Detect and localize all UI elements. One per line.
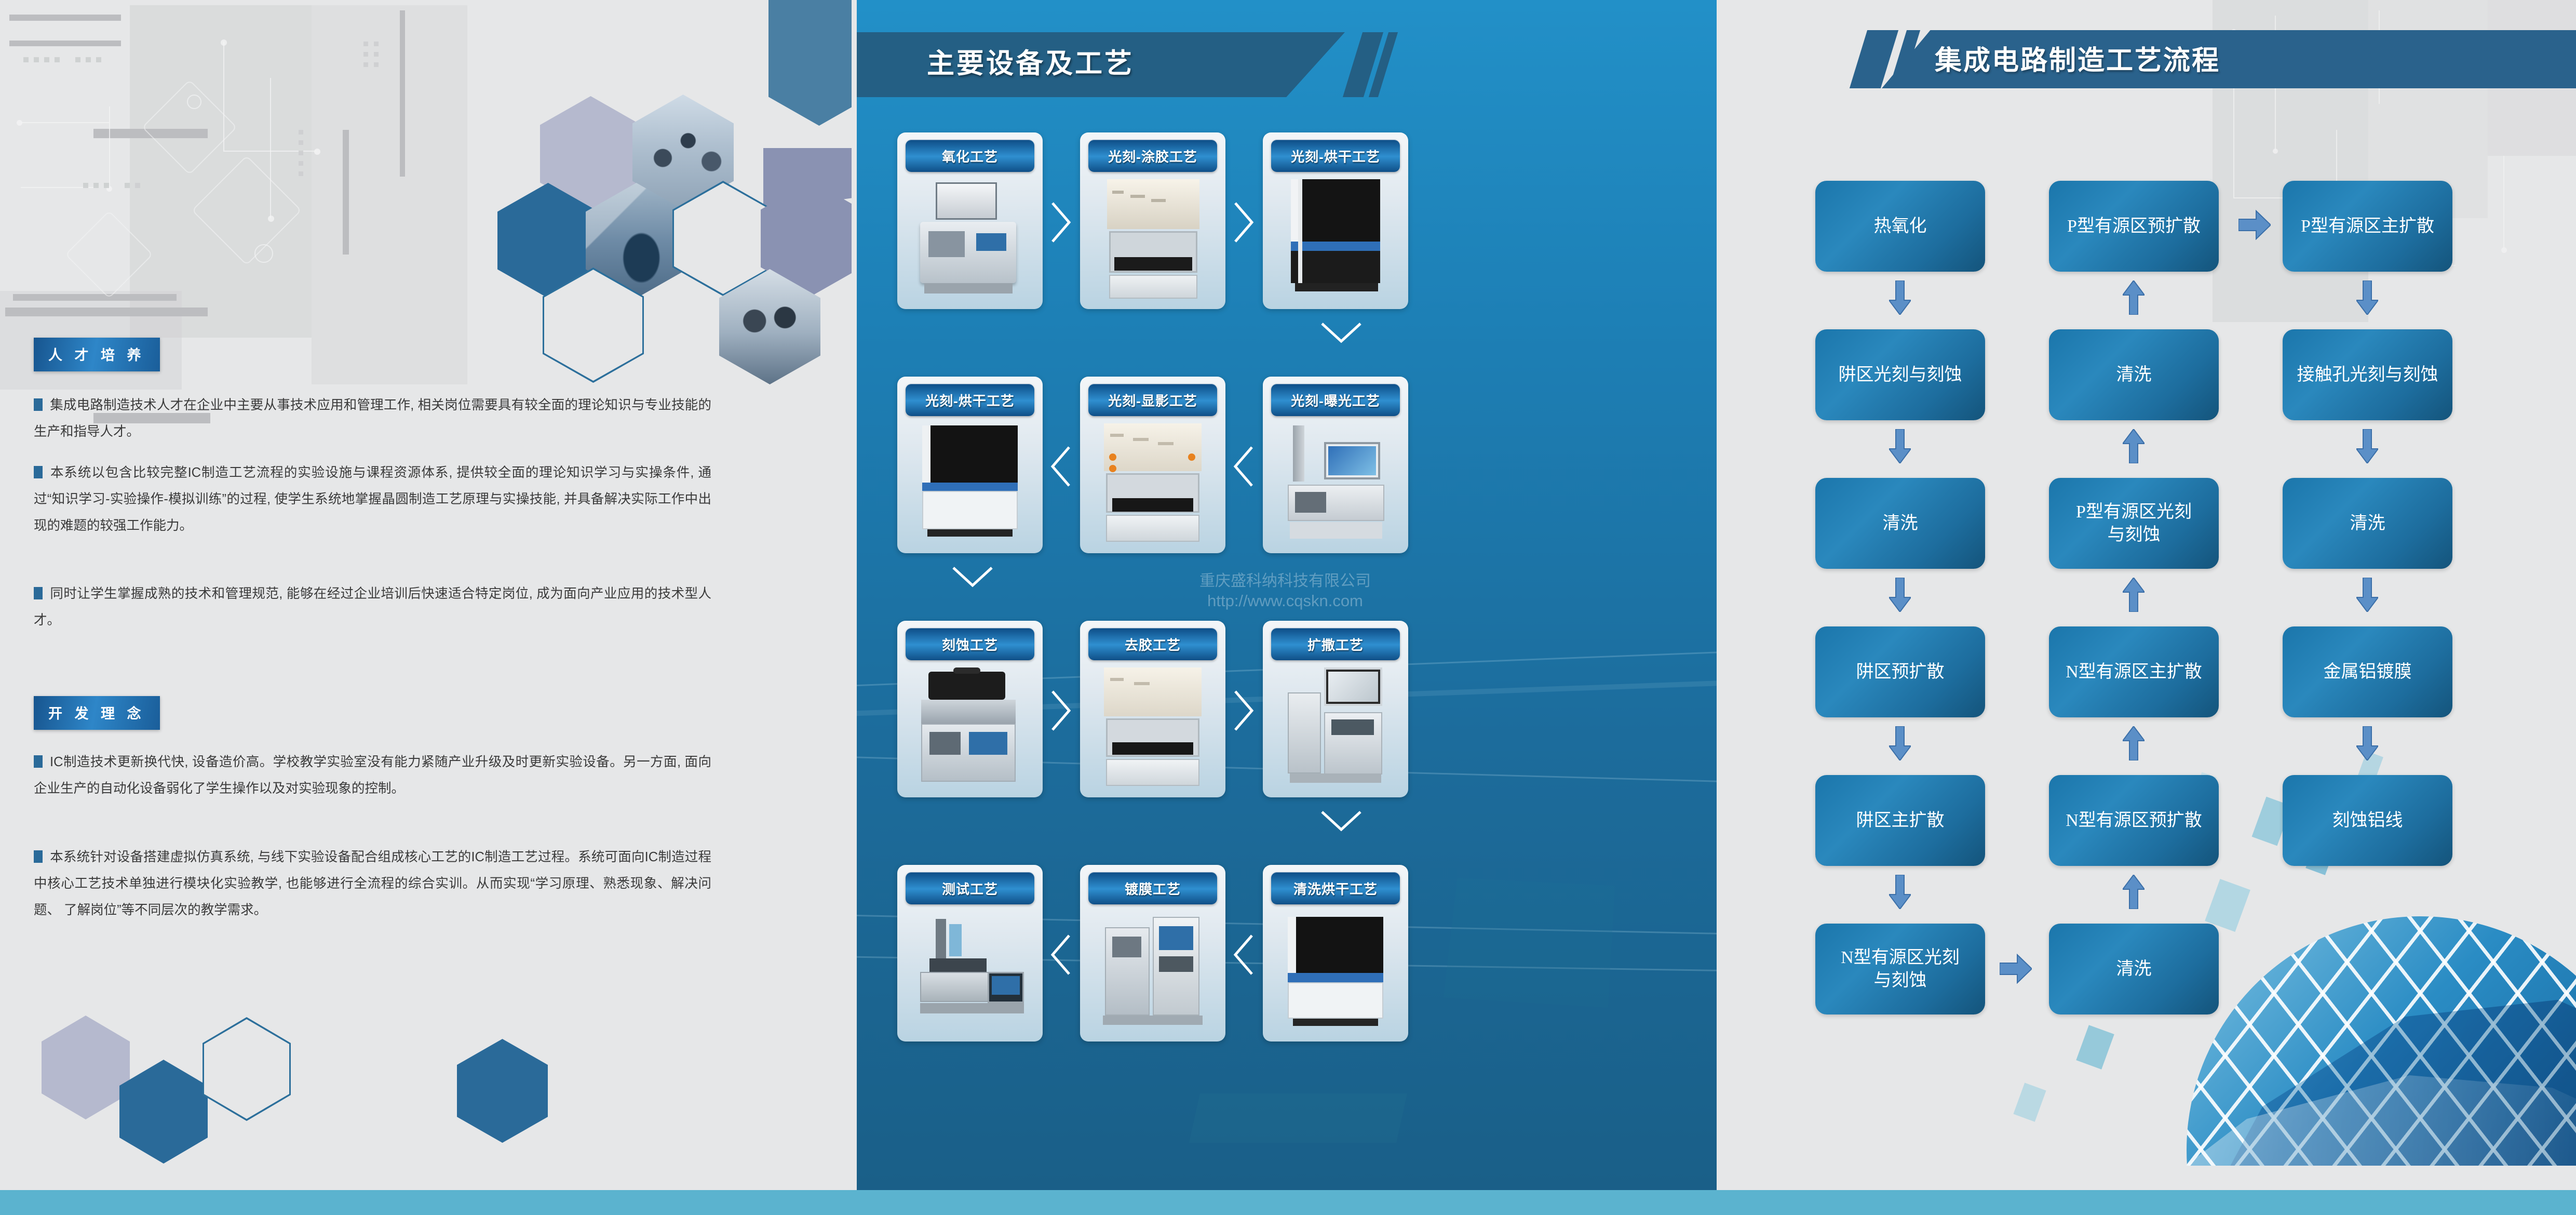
equipment-card[interactable]: 镀膜工艺 [1080, 865, 1225, 1042]
arrow-down-icon [1889, 281, 1911, 315]
equipment-card[interactable]: 扩撒工艺 [1263, 621, 1408, 797]
flow-box[interactable]: P型有源区主扩散 [2283, 181, 2452, 272]
arrow-right-icon [2238, 210, 2271, 240]
equipment-card[interactable]: 光刻-显影工艺 [1080, 377, 1225, 553]
flow-box[interactable]: 清洗 [2049, 329, 2219, 420]
equipment-label: 清洗烘干工艺 [1271, 872, 1400, 904]
equipment-photo-testing [909, 912, 1031, 1032]
paragraph-text: 集成电路制造技术人才在企业中主要从事技术应用和管理工作, 相关岗位需要具有较全面… [34, 398, 711, 439]
arrow-down-icon [2356, 726, 2378, 760]
flow-box[interactable]: 阱区光刻与刻蚀 [1815, 329, 1985, 420]
equipment-photo-bake [1274, 179, 1397, 300]
flow-box[interactable]: 清洗 [2283, 478, 2452, 569]
equipment-label: 测试工艺 [906, 872, 1034, 904]
paragraph-text: 同时让学生掌握成熟的技术和管理规范, 能够在经过企业培训后快速适合特定岗位, 成… [34, 586, 711, 627]
chevron-left-icon [1046, 932, 1075, 977]
flow-box[interactable]: 接触孔光刻与刻蚀 [2283, 329, 2452, 420]
section-badge-talent: 人 才 培 养 [34, 338, 160, 371]
chevron-left-icon [1229, 932, 1258, 977]
circuit-pattern-background [0, 0, 467, 343]
bottom-accent-bar [0, 1190, 2576, 1215]
bullet-square-icon [34, 398, 43, 411]
equipment-label: 光刻-烘干工艺 [906, 384, 1034, 416]
equipment-label: 光刻-涂胶工艺 [1088, 140, 1217, 172]
equipment-photo-oxidation [909, 179, 1031, 300]
bullet-square-icon [34, 466, 43, 478]
hexagon-decor-bottom-blue [119, 1060, 208, 1164]
equipment-label: 光刻-曝光工艺 [1271, 384, 1400, 416]
chevron-right-icon [1229, 688, 1258, 733]
equipment-card[interactable]: 测试工艺 [897, 865, 1043, 1042]
equipment-photo-coatingfilm [1091, 912, 1214, 1032]
flow-box[interactable]: N型有源区预扩散 [2049, 775, 2219, 866]
bullet-square-icon [34, 587, 43, 599]
equipment-photo-develop [1091, 423, 1214, 544]
equipment-label: 氧化工艺 [906, 140, 1034, 172]
arrow-up-icon [2123, 281, 2145, 315]
equipment-photo-stripping [1091, 667, 1214, 788]
paragraph-talent-2: 本系统以包含比较完整IC制造工艺流程的实验设施与课程资源体系, 提供较全面的理论… [34, 460, 711, 539]
arrow-down-icon [2356, 429, 2378, 463]
right-panel: 集成电路制造工艺流程 热氧化 阱区光刻与刻蚀 清洗 阱区预扩散 阱区主扩散 N型… [1717, 0, 2576, 1191]
hexagon-decor-bottom-lilac [42, 1016, 130, 1119]
process-flowchart: 热氧化 阱区光刻与刻蚀 清洗 阱区预扩散 阱区主扩散 N型有源区光刻 与刻蚀 P… [1717, 0, 2576, 1191]
bullet-square-icon [34, 755, 43, 768]
flow-box[interactable]: 刻蚀铝线 [2283, 775, 2452, 866]
paragraph-philosophy-1: IC制造技术更新换代快, 设备造价高。学校教学实验室没有能力紧随产业升级及时更新… [34, 749, 711, 802]
chevron-left-icon [1046, 444, 1075, 489]
equipment-card[interactable]: 氧化工艺 [897, 132, 1043, 309]
chevron-right-icon [1046, 200, 1075, 245]
paragraph-talent-3: 同时让学生掌握成熟的技术和管理规范, 能够在经过企业培训后快速适合特定岗位, 成… [34, 581, 711, 634]
arrow-up-icon [2123, 875, 2145, 909]
chevron-right-icon [1229, 200, 1258, 245]
paragraph-philosophy-2: 本系统针对设备搭建虚拟仿真系统, 与线下实验设备配合组成核心工艺的IC制造工艺过… [34, 844, 711, 924]
chevron-down-icon [1319, 318, 1364, 348]
chevron-down-icon [1319, 807, 1364, 836]
flow-box[interactable]: P型有源区预扩散 [2049, 181, 2219, 272]
bullet-square-icon [34, 850, 43, 863]
flow-box[interactable]: 金属铝镀膜 [2283, 626, 2452, 717]
equipment-label: 光刻-烘干工艺 [1271, 140, 1400, 172]
equipment-card[interactable]: 光刻-曝光工艺 [1263, 377, 1408, 553]
flow-box[interactable]: 阱区主扩散 [1815, 775, 1985, 866]
equipment-photo-cleandry [1274, 912, 1397, 1032]
equipment-card[interactable]: 光刻-烘干工艺 [897, 377, 1043, 553]
flow-box[interactable]: 清洗 [2049, 924, 2219, 1014]
equipment-card[interactable]: 清洗烘干工艺 [1263, 865, 1408, 1042]
panel-divider-left [852, 0, 857, 1191]
equipment-photo-etching [909, 667, 1031, 788]
paragraph-text: 本系统针对设备搭建虚拟仿真系统, 与线下实验设备配合组成核心工艺的IC制造工艺过… [34, 850, 711, 917]
equipment-photo-coating [1091, 179, 1214, 300]
paragraph-text: 本系统以包含比较完整IC制造工艺流程的实验设施与课程资源体系, 提供较全面的理论… [34, 465, 711, 533]
left-panel: 人 才 培 养 集成电路制造技术人才在企业中主要从事技术应用和管理工作, 相关岗… [0, 0, 857, 1191]
hexagon-decor-bottom-outline [203, 1017, 291, 1121]
equipment-label: 扩撒工艺 [1271, 628, 1400, 660]
middle-panel: 主要设备及工艺 氧化工艺 光刻-涂胶工艺 [857, 0, 1717, 1191]
equipment-card[interactable]: 光刻-烘干工艺 [1263, 132, 1408, 309]
middle-panel-title: 主要设备及工艺 [927, 42, 1134, 81]
flow-box[interactable]: 阱区预扩散 [1815, 626, 1985, 717]
equipment-photo-bake2 [909, 423, 1031, 544]
equipment-card[interactable]: 去胶工艺 [1080, 621, 1225, 797]
flow-box[interactable]: P型有源区光刻 与刻蚀 [2049, 478, 2219, 569]
arrow-up-icon [2123, 429, 2145, 463]
equipment-label: 去胶工艺 [1088, 628, 1217, 660]
arrow-up-icon [2123, 726, 2145, 760]
equipment-label: 镀膜工艺 [1088, 872, 1217, 904]
section-badge-philosophy: 开 发 理 念 [34, 696, 160, 730]
hexagon-decor-bottom-blue-2 [457, 1039, 548, 1143]
chevron-right-icon [1046, 688, 1075, 733]
chevron-down-icon [950, 563, 995, 592]
arrow-down-icon [1889, 578, 1911, 612]
arrow-down-icon [1889, 726, 1911, 760]
equipment-photo-diffusion [1274, 667, 1397, 788]
hexagon-photo-cluster [457, 0, 857, 364]
arrow-down-icon [2356, 578, 2378, 612]
paragraph-talent-1: 集成电路制造技术人才在企业中主要从事技术应用和管理工作, 相关岗位需要具有较全面… [34, 392, 711, 445]
flow-box[interactable]: N型有源区光刻 与刻蚀 [1815, 924, 1985, 1014]
flow-box[interactable]: 热氧化 [1815, 181, 1985, 272]
poster-root: 人 才 培 养 集成电路制造技术人才在企业中主要从事技术应用和管理工作, 相关岗… [0, 0, 2576, 1215]
arrow-right-icon [2000, 954, 2032, 984]
equipment-label: 刻蚀工艺 [906, 628, 1034, 660]
hexagon-filled-steel [768, 10, 857, 126]
equipment-card[interactable]: 光刻-涂胶工艺 [1080, 132, 1225, 309]
equipment-photo-exposure [1274, 423, 1397, 544]
paragraph-text: IC制造技术更新换代快, 设备造价高。学校教学实验室没有能力紧随产业升级及时更新… [34, 755, 711, 796]
flow-box[interactable]: N型有源区主扩散 [2049, 626, 2219, 717]
arrow-down-icon [2356, 281, 2378, 315]
arrow-up-icon [2123, 578, 2145, 612]
flow-box[interactable]: 清洗 [1815, 478, 1985, 569]
arrow-down-icon [1889, 875, 1911, 909]
arrow-down-icon [1889, 429, 1911, 463]
equipment-card[interactable]: 刻蚀工艺 [897, 621, 1043, 797]
chevron-left-icon [1229, 444, 1258, 489]
equipment-label: 光刻-显影工艺 [1088, 384, 1217, 416]
